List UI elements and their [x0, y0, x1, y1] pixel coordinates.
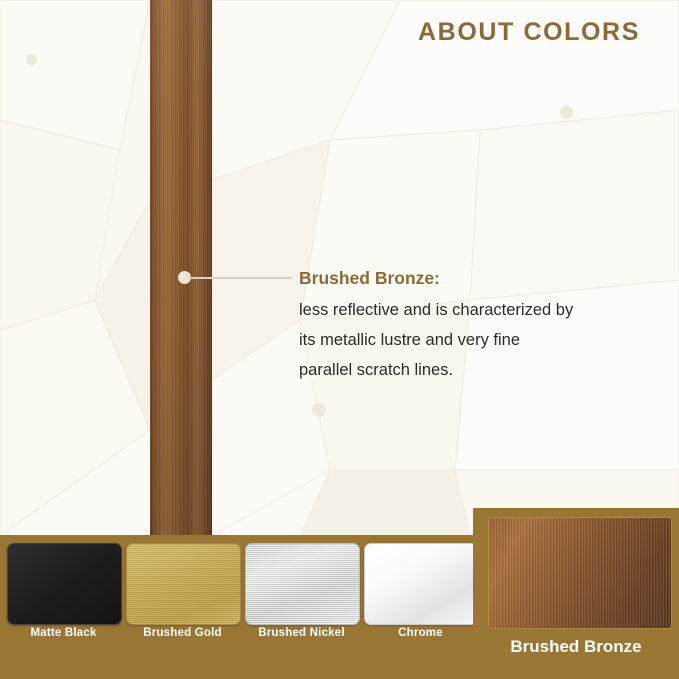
callout-heading: Brushed Bronze:: [299, 263, 649, 293]
swatch-chrome[interactable]: [364, 543, 479, 625]
swatch-brushed-nickel[interactable]: [245, 543, 360, 625]
about-colors-infographic: ABOUT COLORS Brushed Bronze: less reflec…: [0, 0, 679, 679]
featured-swatch-panel[interactable]: Brushed Bronze: [473, 508, 679, 679]
swatch-brushed-bronze[interactable]: [488, 517, 672, 629]
callout-description: Brushed Bronze: less reflective and is c…: [299, 263, 649, 385]
swatch-matte-black[interactable]: [7, 543, 122, 625]
callout-body-line: less reflective and is characterized by: [299, 295, 649, 325]
swatch-label-matte-black: Matte Black: [7, 627, 120, 639]
decorative-dot: [560, 106, 573, 119]
swatch-label-chrome: Chrome: [364, 627, 477, 639]
callout-body: less reflective and is characterized by …: [299, 295, 649, 385]
decorative-dot: [312, 403, 326, 417]
page-title: ABOUT COLORS: [418, 18, 640, 47]
brushed-bronze-product-bar: [150, 0, 212, 536]
callout-leader-line: [188, 277, 292, 279]
decorative-dot: [26, 54, 37, 65]
callout-body-line: parallel scratch lines.: [299, 355, 649, 385]
swatch-label-brushed-nickel: Brushed Nickel: [245, 627, 358, 639]
swatch-brushed-gold[interactable]: [126, 543, 241, 625]
swatch-label-brushed-gold: Brushed Gold: [126, 627, 239, 639]
callout-body-line: its metallic lustre and very fine: [299, 325, 649, 355]
swatch-label-brushed-bronze: Brushed Bronze: [473, 637, 679, 657]
